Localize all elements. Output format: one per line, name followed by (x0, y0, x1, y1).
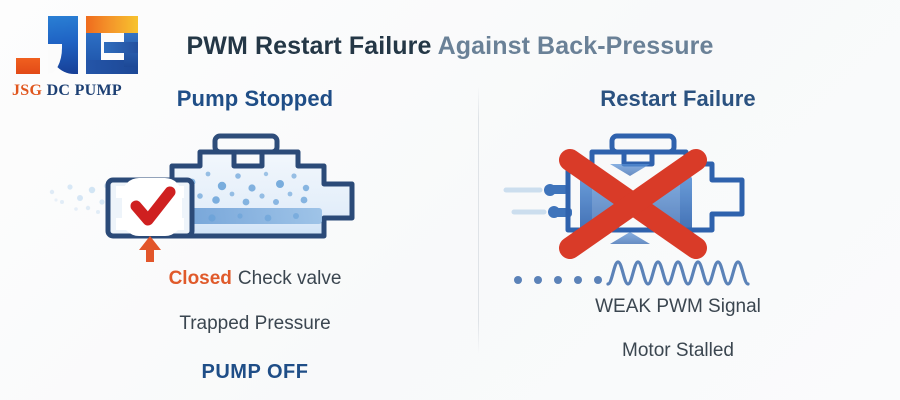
check-valve-caption: ClosedCheck valve (40, 268, 470, 290)
panel-restart-failure: Restart Failure (488, 86, 868, 386)
infographic-canvas: JSG DC PUMP PWM Restart Failure Against … (0, 0, 900, 400)
signal-dots (514, 276, 602, 284)
panel-pump-stopped: Pump Stopped (40, 86, 470, 386)
panel-right-heading: Restart Failure (488, 86, 868, 112)
motor-stalled-label: Motor Stalled (488, 340, 868, 362)
logo-g-top-bar (86, 16, 138, 33)
panel-left-heading: Pump Stopped (40, 86, 470, 112)
check-valve-housing (108, 178, 192, 236)
closed-label: Closed (169, 268, 232, 289)
pump-body (172, 136, 352, 236)
trapped-pressure-label: Trapped Pressure (40, 313, 470, 335)
pump-closed-valve-icon (40, 130, 470, 260)
page-title-secondary: Against Back-Pressure (438, 32, 714, 60)
motion-lines (506, 190, 544, 212)
check-valve-label: Check valve (232, 268, 342, 289)
pulse-train-path (608, 262, 748, 284)
weak-pwm-signal-label: WEAK PWM Signal (488, 296, 868, 318)
panel-divider (478, 86, 479, 354)
motor-blocked-icon (488, 130, 868, 260)
pump-off-status: PUMP OFF (40, 361, 470, 384)
page-title: PWM Restart Failure Against Back-Pressur… (0, 32, 900, 61)
closed-direction-arrow (139, 236, 161, 262)
restart-failure-illustration (488, 130, 868, 260)
pump-stopped-illustration (40, 130, 470, 260)
brand-name-jsg: JSG (12, 82, 42, 99)
page-title-primary: PWM Restart Failure (187, 32, 432, 60)
